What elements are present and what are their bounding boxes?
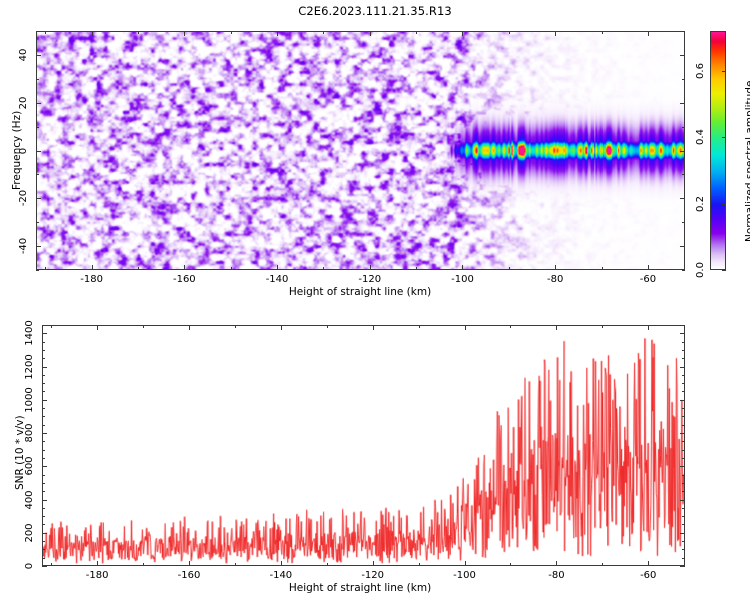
snr-yticklabel: 1400 (24, 321, 35, 346)
snr-ytick-right (680, 367, 685, 368)
snr-ytick-minor-right (682, 375, 685, 376)
snr-ytick (42, 333, 47, 334)
snr-ytick-minor (42, 549, 45, 550)
spectrogram-ytick-minor-right (682, 174, 685, 175)
spectrogram-xtick-minor-top (416, 31, 417, 34)
snr-ytick-minor-right (682, 516, 685, 517)
spectrogram-xtick-top (370, 31, 371, 36)
snr-ytick-minor-right (682, 441, 685, 442)
spectrogram-xtick (462, 265, 463, 270)
snr-ytick-minor (42, 558, 45, 559)
spectrogram-ytick (36, 198, 41, 199)
snr-ytick-right (680, 400, 685, 401)
snr-xtick-top (281, 325, 282, 330)
snr-yticklabel: 400 (24, 490, 35, 509)
spectrogram-ytick-minor-right (682, 222, 685, 223)
spectrogram-x-axis-label: Height of straight line (km) (289, 286, 431, 298)
spectrogram-ytick-minor-right (682, 31, 685, 32)
spectrogram-ytick-minor (36, 222, 39, 223)
snr-ytick-minor (42, 441, 45, 442)
snr-xtick-minor-top (51, 325, 52, 328)
snr-ytick-minor-right (682, 425, 685, 426)
snr-ytick-minor (42, 541, 45, 542)
colorbar-ticklabel: 0.4 (695, 129, 706, 145)
colorbar-tick (722, 204, 726, 205)
snr-xtick-minor-top (235, 325, 236, 328)
spectrogram-ytick-minor (36, 270, 39, 271)
snr-ytick-minor (42, 383, 45, 384)
snr-ytick-minor (42, 524, 45, 525)
spectrogram-xtick (277, 265, 278, 270)
snr-xtick (97, 561, 98, 566)
spectrogram-image (37, 32, 684, 269)
spectrogram-xtick-top (184, 31, 185, 36)
spectrogram-xtick-minor-top (45, 31, 46, 34)
spectrogram-ytick-right (680, 103, 685, 104)
snr-ytick-minor-right (682, 549, 685, 550)
snr-ytick-minor (42, 491, 45, 492)
spectrogram-xticklabel: -140 (266, 274, 289, 285)
snr-ytick-minor-right (682, 483, 685, 484)
snr-ytick (42, 400, 47, 401)
snr-ytick-minor-right (682, 458, 685, 459)
spectrogram-ytick-minor (36, 174, 39, 175)
spectrogram-yticklabel: 40 (18, 49, 29, 62)
spectrogram-y-axis-label: Frequency (Hz) (11, 111, 23, 190)
snr-ytick-minor (42, 475, 45, 476)
snr-ytick-minor-right (682, 391, 685, 392)
snr-ytick-minor (42, 325, 45, 326)
spectrogram-xtick (648, 265, 649, 270)
colorbar-ticklabel: 0.0 (695, 262, 706, 278)
snr-ytick-minor-right (682, 325, 685, 326)
snr-xticklabel: -80 (548, 570, 564, 581)
snr-yticklabel: 1200 (24, 354, 35, 379)
snr-xtick-minor-top (327, 325, 328, 328)
snr-xticklabel: -160 (178, 570, 201, 581)
snr-xtick-minor (327, 563, 328, 566)
snr-panel (42, 325, 685, 566)
snr-xticklabel: -120 (361, 570, 384, 581)
snr-ytick-minor-right (682, 383, 685, 384)
snr-xtick-top (648, 325, 649, 330)
snr-ytick-minor (42, 342, 45, 343)
snr-yticklabel: 200 (24, 523, 35, 542)
spectrogram-xtick (184, 265, 185, 270)
colorbar-tick (722, 71, 726, 72)
snr-ytick-right (680, 566, 685, 567)
snr-ytick-minor (42, 508, 45, 509)
snr-xtick-minor-top (602, 325, 603, 328)
spectrogram-xtick-top (277, 31, 278, 36)
snr-xtick (648, 561, 649, 566)
snr-ytick-minor-right (682, 342, 685, 343)
spectrogram-xticklabel: -160 (173, 274, 196, 285)
snr-ytick-minor-right (682, 408, 685, 409)
snr-ytick-minor-right (682, 524, 685, 525)
snr-ytick-minor-right (682, 350, 685, 351)
snr-y-axis-label: SNR (10 * v/v) (14, 415, 26, 490)
snr-xtick (556, 561, 557, 566)
snr-ytick-right (680, 433, 685, 434)
colorbar (710, 31, 726, 270)
spectrogram-yticklabel: -40 (18, 238, 29, 254)
snr-ytick-minor (42, 458, 45, 459)
spectrogram-xtick-minor (323, 267, 324, 270)
snr-ytick-minor (42, 358, 45, 359)
snr-yticklabel: 1000 (24, 387, 35, 412)
snr-ytick-minor (42, 416, 45, 417)
snr-ytick-minor (42, 391, 45, 392)
spectrogram-ytick-minor (36, 79, 39, 80)
spectrogram-ytick (36, 55, 41, 56)
snr-xtick-minor-top (143, 325, 144, 328)
snr-ytick-minor (42, 350, 45, 351)
snr-ytick (42, 433, 47, 434)
snr-xtick (465, 561, 466, 566)
snr-ytick-minor-right (682, 558, 685, 559)
spectrogram-ytick-right (680, 55, 685, 56)
spectrogram-xtick-top (462, 31, 463, 36)
spectrogram-yticklabel: 20 (18, 96, 29, 109)
snr-ytick-minor (42, 450, 45, 451)
spectrogram-ytick (36, 151, 41, 152)
spectrogram-xticklabel: -120 (358, 274, 381, 285)
spectrogram-xtick (92, 265, 93, 270)
snr-trace (43, 326, 684, 565)
snr-xticklabel: -140 (269, 570, 292, 581)
colorbar-label: Normalized spectral amplitude (744, 81, 750, 242)
spectrogram-xtick (555, 265, 556, 270)
snr-xtick-minor (235, 563, 236, 566)
snr-ytick (42, 533, 47, 534)
colorbar-tick (722, 270, 726, 271)
spectrogram-xtick-top (92, 31, 93, 36)
snr-xtick-minor (602, 563, 603, 566)
snr-xtick-top (97, 325, 98, 330)
spectrogram-panel (36, 31, 685, 270)
snr-ytick-minor (42, 425, 45, 426)
spectrogram-xtick-minor (138, 267, 139, 270)
spectrogram-ytick-minor-right (682, 270, 685, 271)
snr-yticklabel: 0 (24, 563, 35, 569)
figure-canvas: C2E6.2023.111.21.35.R13 -180-160-140-120… (0, 0, 750, 600)
snr-ytick-minor (42, 375, 45, 376)
snr-xticklabel: -180 (86, 570, 109, 581)
snr-ytick-minor (42, 483, 45, 484)
snr-xtick-top (373, 325, 374, 330)
spectrogram-xtick-minor (231, 267, 232, 270)
snr-xtick-minor (143, 563, 144, 566)
spectrogram-ytick-right (680, 246, 685, 247)
snr-ytick-minor-right (682, 491, 685, 492)
spectrogram-xticklabel: -180 (80, 274, 103, 285)
snr-xtick-top (556, 325, 557, 330)
spectrogram-xtick-minor (602, 267, 603, 270)
snr-xtick-top (189, 325, 190, 330)
spectrogram-xtick-minor-top (231, 31, 232, 34)
colorbar-ticklabel: 0.2 (695, 196, 706, 212)
snr-xtick-minor (510, 563, 511, 566)
spectrogram-ytick-right (680, 151, 685, 152)
snr-ytick-minor (42, 408, 45, 409)
snr-ytick-right (680, 466, 685, 467)
snr-xtick-minor (419, 563, 420, 566)
snr-ytick-minor-right (682, 358, 685, 359)
spectrogram-ytick-minor-right (682, 127, 685, 128)
figure-title: C2E6.2023.111.21.35.R13 (0, 4, 750, 18)
snr-xtick-minor-top (419, 325, 420, 328)
snr-ytick (42, 500, 47, 501)
snr-ytick-minor-right (682, 450, 685, 451)
snr-xticklabel: -100 (453, 570, 476, 581)
spectrogram-xtick (370, 265, 371, 270)
spectrogram-ytick-right (680, 198, 685, 199)
spectrogram-yticklabel: -20 (18, 190, 29, 206)
spectrogram-ytick-minor (36, 127, 39, 128)
spectrogram-xticklabel: -80 (547, 274, 563, 285)
spectrogram-xtick-minor-top (602, 31, 603, 34)
snr-ytick-right (680, 333, 685, 334)
snr-ytick-minor-right (682, 416, 685, 417)
snr-xtick-minor (51, 563, 52, 566)
snr-ytick (42, 466, 47, 467)
spectrogram-xticklabel: -100 (451, 274, 474, 285)
snr-xtick (373, 561, 374, 566)
snr-ytick-minor (42, 516, 45, 517)
spectrogram-xtick-top (555, 31, 556, 36)
snr-xtick (281, 561, 282, 566)
snr-ytick-right (680, 500, 685, 501)
snr-xtick-top (465, 325, 466, 330)
spectrogram-xtick-minor-top (323, 31, 324, 34)
snr-ytick-minor-right (682, 475, 685, 476)
colorbar-tick (722, 137, 726, 138)
snr-xtick-minor-top (510, 325, 511, 328)
spectrogram-xtick-minor (416, 267, 417, 270)
spectrogram-xticklabel: -60 (640, 274, 656, 285)
spectrogram-xtick-minor-top (509, 31, 510, 34)
spectrogram-ytick-minor-right (682, 79, 685, 80)
snr-ytick (42, 367, 47, 368)
spectrogram-xtick-minor (509, 267, 510, 270)
snr-ytick-minor-right (682, 508, 685, 509)
spectrogram-ytick (36, 246, 41, 247)
snr-ytick-right (680, 533, 685, 534)
snr-x-axis-label: Height of straight line (km) (289, 582, 431, 594)
snr-ytick (42, 566, 47, 567)
snr-ytick-minor-right (682, 541, 685, 542)
colorbar-ticklabel: 0.6 (695, 63, 706, 79)
spectrogram-xtick-minor-top (138, 31, 139, 34)
snr-xticklabel: -60 (640, 570, 656, 581)
spectrogram-xtick-top (648, 31, 649, 36)
spectrogram-ytick-minor (36, 31, 39, 32)
spectrogram-xtick-minor (45, 267, 46, 270)
spectrogram-ytick (36, 103, 41, 104)
snr-xtick (189, 561, 190, 566)
